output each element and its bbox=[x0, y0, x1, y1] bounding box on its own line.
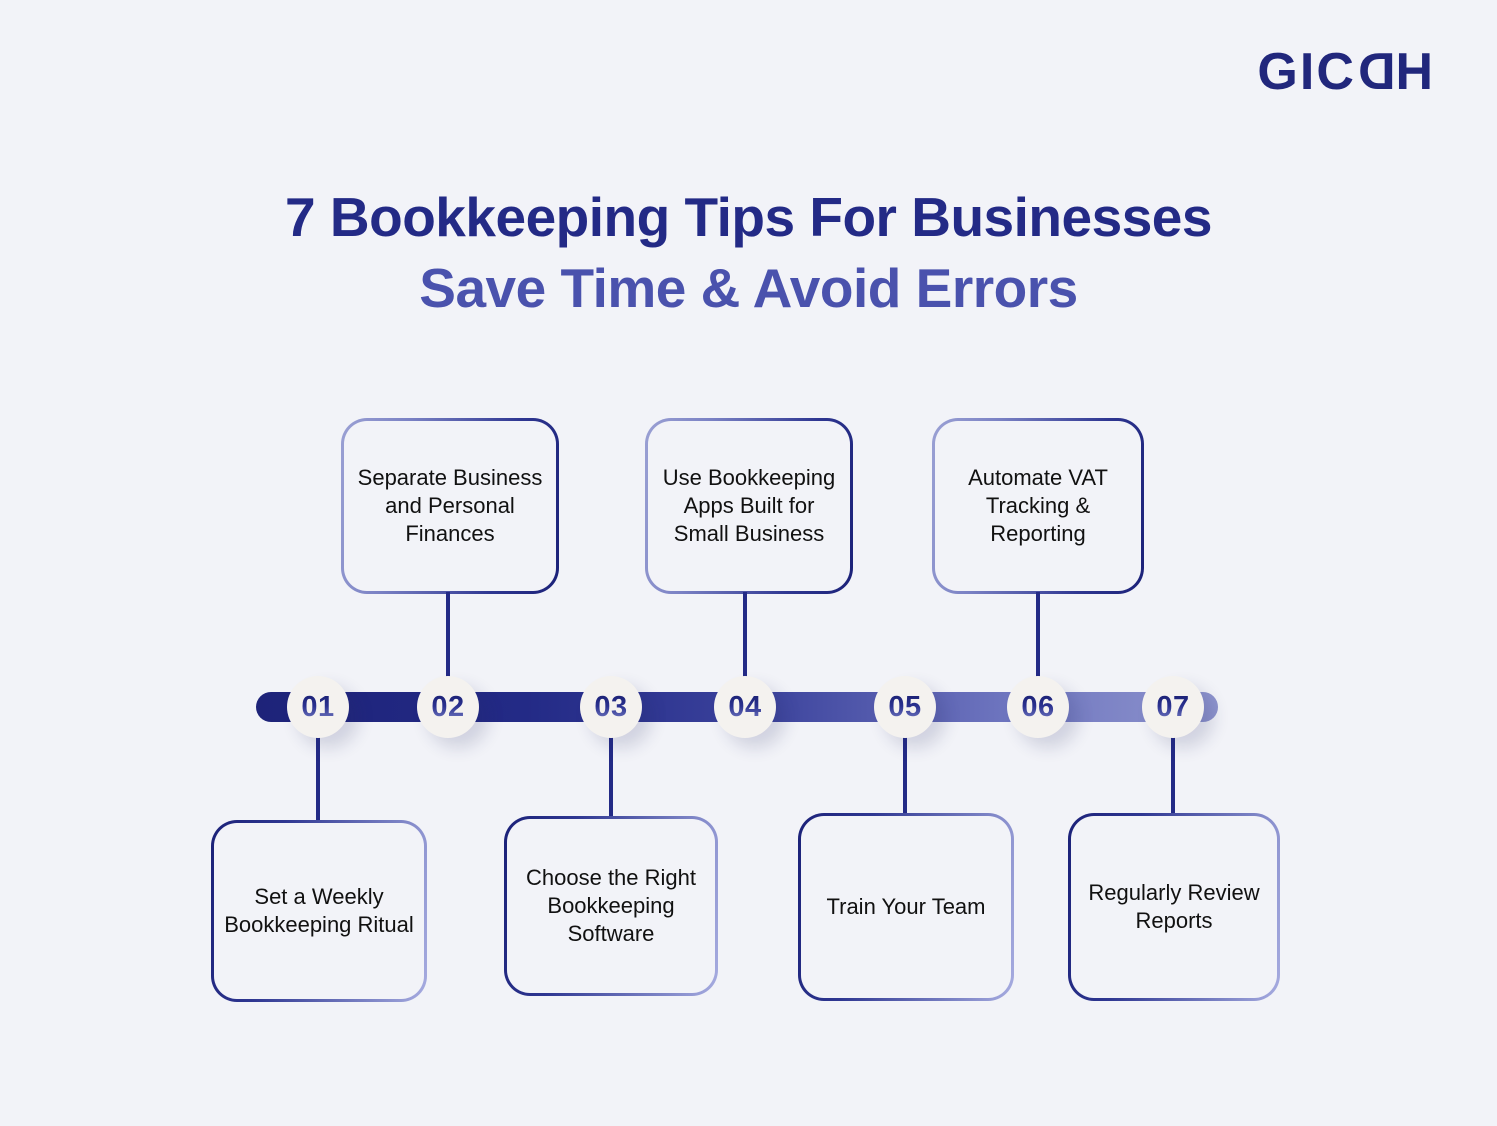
step-card-07[interactable]: Regularly Review Reports bbox=[1068, 813, 1280, 1001]
step-card-03-label: Choose the Right Bookkeeping Software bbox=[517, 864, 705, 947]
step-card-05-inner: Train Your Team bbox=[801, 816, 1011, 998]
timeline-node-07[interactable]: 07 bbox=[1142, 676, 1204, 738]
step-card-02-inner: Separate Business and Personal Finances bbox=[344, 421, 556, 591]
step-card-07-label: Regularly Review Reports bbox=[1081, 879, 1267, 934]
brand-logo: GICDH bbox=[1257, 46, 1435, 98]
infographic-canvas: GICDH 7 Bookkeeping Tips For Businesses … bbox=[0, 0, 1497, 1126]
timeline-node-01[interactable]: 01 bbox=[287, 676, 349, 738]
step-card-04-inner: Use Bookkeeping Apps Built for Small Bus… bbox=[648, 421, 850, 591]
step-card-06-inner: Automate VAT Tracking & Reporting bbox=[935, 421, 1141, 591]
timeline-node-07-number: 07 bbox=[1156, 693, 1189, 722]
timeline-node-02-number: 02 bbox=[431, 693, 464, 722]
timeline-node-06-number: 06 bbox=[1021, 693, 1054, 722]
timeline-node-04-number: 04 bbox=[728, 693, 761, 722]
step-card-03[interactable]: Choose the Right Bookkeeping Software bbox=[504, 816, 718, 996]
step-card-03-inner: Choose the Right Bookkeeping Software bbox=[507, 819, 715, 993]
timeline-node-05-number: 05 bbox=[888, 693, 921, 722]
timeline-node-03-number: 03 bbox=[594, 693, 627, 722]
timeline-node-04[interactable]: 04 bbox=[714, 676, 776, 738]
step-card-02[interactable]: Separate Business and Personal Finances bbox=[341, 418, 559, 594]
timeline-node-03[interactable]: 03 bbox=[580, 676, 642, 738]
title-line-1: 7 Bookkeeping Tips For Businesses bbox=[0, 186, 1497, 249]
step-card-05-label: Train Your Team bbox=[827, 893, 986, 921]
step-card-04[interactable]: Use Bookkeeping Apps Built for Small Bus… bbox=[645, 418, 853, 594]
step-card-04-label: Use Bookkeeping Apps Built for Small Bus… bbox=[658, 464, 840, 547]
timeline-node-01-number: 01 bbox=[301, 693, 334, 722]
page-title: 7 Bookkeeping Tips For Businesses Save T… bbox=[0, 186, 1497, 321]
step-card-01[interactable]: Set a Weekly Bookkeeping Ritual bbox=[211, 820, 427, 1002]
step-card-01-inner: Set a Weekly Bookkeeping Ritual bbox=[214, 823, 424, 999]
title-line-2: Save Time & Avoid Errors bbox=[0, 257, 1497, 320]
step-card-01-label: Set a Weekly Bookkeeping Ritual bbox=[224, 883, 414, 938]
logo-text-part-2: D bbox=[1356, 46, 1396, 98]
timeline-node-05[interactable]: 05 bbox=[874, 676, 936, 738]
step-card-07-inner: Regularly Review Reports bbox=[1071, 816, 1277, 998]
timeline-node-02[interactable]: 02 bbox=[417, 676, 479, 738]
logo-text-part-1: GIC bbox=[1257, 43, 1355, 101]
logo-text-part-3: H bbox=[1395, 43, 1435, 101]
timeline-node-06[interactable]: 06 bbox=[1007, 676, 1069, 738]
step-card-06-label: Automate VAT Tracking & Reporting bbox=[945, 464, 1131, 547]
step-card-02-label: Separate Business and Personal Finances bbox=[354, 464, 546, 547]
step-card-06[interactable]: Automate VAT Tracking & Reporting bbox=[932, 418, 1144, 594]
step-card-05[interactable]: Train Your Team bbox=[798, 813, 1014, 1001]
